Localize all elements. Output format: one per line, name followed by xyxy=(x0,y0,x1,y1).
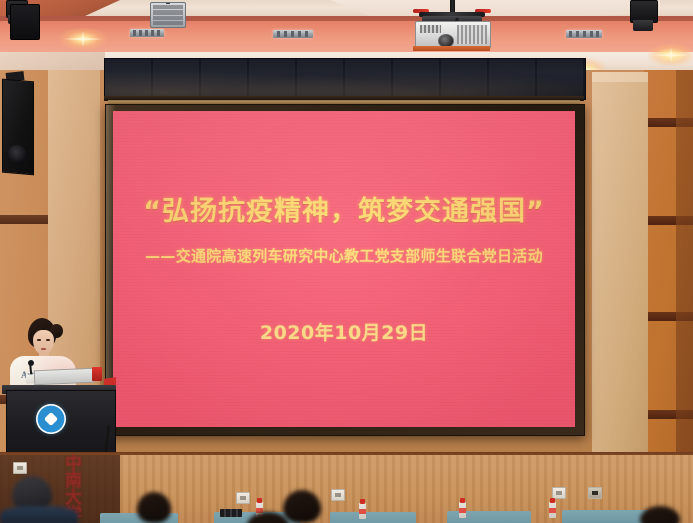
ceiling-projector-icon xyxy=(415,0,489,52)
grid-fixture-left-icon xyxy=(150,2,186,28)
led-strip-2-icon xyxy=(273,30,313,38)
right-pillar xyxy=(592,72,648,464)
monitor-top-left xyxy=(10,4,40,40)
water-bottle-3 xyxy=(459,502,466,518)
wall-speaker-left xyxy=(2,79,34,176)
valance-sheen xyxy=(105,59,585,99)
water-bottle-2 xyxy=(359,503,366,519)
university-emblem-icon xyxy=(36,404,66,434)
audience-shoulders-1 xyxy=(0,506,78,523)
led-screen[interactable]: “弘扬抗疫精神，筑梦交通强国” ——交通院高速列车研究中心教工党支部师生联合党日… xyxy=(113,111,575,427)
podium-laptop[interactable] xyxy=(34,368,95,386)
wall-outlet-1[interactable] xyxy=(13,462,27,474)
podium-microphone-icon xyxy=(28,360,34,366)
audience-head-2 xyxy=(283,490,321,523)
wall-outlet-5[interactable] xyxy=(236,492,250,504)
right-wall-corner-shadow xyxy=(676,70,693,470)
cup-tray xyxy=(220,509,242,517)
presenter-eye-left xyxy=(37,339,41,341)
speaker-cone-icon xyxy=(8,144,27,165)
led-strip-3-icon xyxy=(566,30,602,38)
wall-outlet-2[interactable] xyxy=(331,489,345,501)
water-bottle-4 xyxy=(549,502,556,518)
presenter-eye-right xyxy=(46,339,50,341)
ceiling-soffit-shadow xyxy=(0,16,693,21)
seat-3 xyxy=(330,512,416,523)
right-pillar-highlight xyxy=(592,72,648,82)
seat-5 xyxy=(562,510,648,523)
screen-valance-panel xyxy=(104,58,586,100)
presenter-mouth xyxy=(41,348,46,350)
audience-head-1 xyxy=(137,492,171,523)
led-strip-1-icon xyxy=(130,29,164,37)
podium-red-object xyxy=(92,367,102,381)
auditorium-photo: “弘扬抗疫精神，筑梦交通强国” ——交通院高速列车研究中心教工党支部师生联合党日… xyxy=(0,0,693,523)
wall-outlet-4[interactable] xyxy=(588,487,602,499)
screen-vignette xyxy=(113,111,575,427)
stage-light-right-icon xyxy=(630,0,656,34)
